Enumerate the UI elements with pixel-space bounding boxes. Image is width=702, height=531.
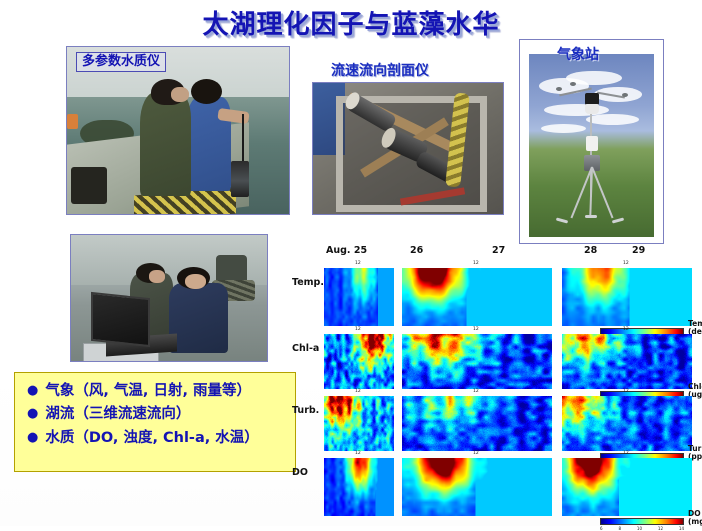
- colorbar-gradient: [600, 518, 684, 525]
- list-item-label: 气象（风, 气温, 日射, 雨量等）: [45, 380, 251, 403]
- photo-weather-station: [519, 39, 664, 244]
- photo-caption-weather-station: 气象站: [557, 44, 599, 64]
- panel-tick-label: 12: [623, 327, 629, 332]
- parameters-list-box: ● 气象（风, 气温, 日射, 雨量等） ● 湖流（三维流速流向） ● 水质（D…: [14, 372, 296, 472]
- panel-tick-label: 12: [355, 261, 361, 266]
- row-label-chla: Chl-a: [292, 343, 319, 354]
- photo-adcp-profiler-image: [313, 83, 503, 214]
- row-label-do: DO: [292, 467, 308, 478]
- panel-tick-label: 12: [623, 451, 629, 456]
- row-label-temp: Temp.: [292, 277, 324, 288]
- heatmap-panel-turb-0: [324, 396, 394, 451]
- list-item: ● 气象（风, 气温, 日射, 雨量等）: [27, 380, 287, 403]
- slide-canvas: 太湖理化因子与蓝藻水华 多参数水质仪 流速流向剖面仪: [0, 0, 702, 526]
- date-label-1: 26: [410, 245, 423, 256]
- timeseries-heatmap-figure: Aug. 2526272829Temp.1212122426283032Temp…: [292, 236, 702, 526]
- photo-field-laptop: [70, 234, 268, 362]
- photo-caption-water-quality-sonde: 多参数水质仪: [76, 52, 166, 72]
- date-label-4: 29: [632, 245, 645, 256]
- list-item: ● 水质（DO, 浊度, Chl-a, 水温）: [27, 427, 287, 450]
- panel-tick-label: 12: [473, 327, 479, 332]
- colorbar-unit-label: DO(mg/l): [688, 510, 702, 527]
- photo-field-laptop-image: [71, 235, 267, 361]
- bullet-icon: ●: [27, 380, 38, 401]
- colorbar-tick-label: 10: [637, 526, 642, 531]
- heatmap-panel-temp-2: [562, 268, 692, 326]
- heatmap-panel-temp-1: [402, 268, 552, 326]
- panel-tick-label: 12: [623, 389, 629, 394]
- colorbar-tick-label: 6: [600, 526, 603, 531]
- colorbar-tick-label: 12: [658, 526, 663, 531]
- panel-tick-label: 12: [473, 389, 479, 394]
- panel-tick-label: 12: [355, 389, 361, 394]
- list-item-label: 水质（DO, 浊度, Chl-a, 水温）: [45, 427, 258, 450]
- panel-tick-label: 12: [473, 261, 479, 266]
- photo-weather-station-image: [520, 40, 663, 243]
- heatmap-panel-turb-2: [562, 396, 692, 451]
- colorbar-ticks: 68101214: [600, 526, 684, 531]
- heatmap-panel-do-0: [324, 458, 394, 516]
- colorbar-tick-label: 8: [618, 526, 621, 531]
- date-label-2: 27: [492, 245, 505, 256]
- list-item: ● 湖流（三维流速流向）: [27, 403, 287, 426]
- photo-caption-adcp-profiler: 流速流向剖面仪: [331, 60, 429, 80]
- heatmap-panel-chla-1: [402, 334, 552, 389]
- heatmap-panel-do-2: [562, 458, 692, 516]
- row-label-turb: Turb.: [292, 405, 319, 416]
- panel-tick-label: 12: [473, 451, 479, 456]
- photo-adcp-profiler: [312, 82, 504, 215]
- heatmap-panel-chla-2: [562, 334, 692, 389]
- bullet-icon: ●: [27, 403, 38, 424]
- page-title: 太湖理化因子与蓝藻水华: [0, 4, 702, 41]
- colorbar-tick-label: 14: [679, 526, 684, 531]
- bullet-icon: ●: [27, 427, 38, 448]
- heatmap-panel-do-1: [402, 458, 552, 516]
- heatmap-panel-temp-0: [324, 268, 394, 326]
- date-label-3: 28: [584, 245, 597, 256]
- list-item-label: 湖流（三维流速流向）: [45, 403, 190, 426]
- heatmap-panel-chla-0: [324, 334, 394, 389]
- date-label-0: Aug. 25: [326, 245, 367, 256]
- panel-tick-label: 12: [355, 327, 361, 332]
- heatmap-panel-turb-1: [402, 396, 552, 451]
- panel-tick-label: 12: [355, 451, 361, 456]
- panel-tick-label: 12: [623, 261, 629, 266]
